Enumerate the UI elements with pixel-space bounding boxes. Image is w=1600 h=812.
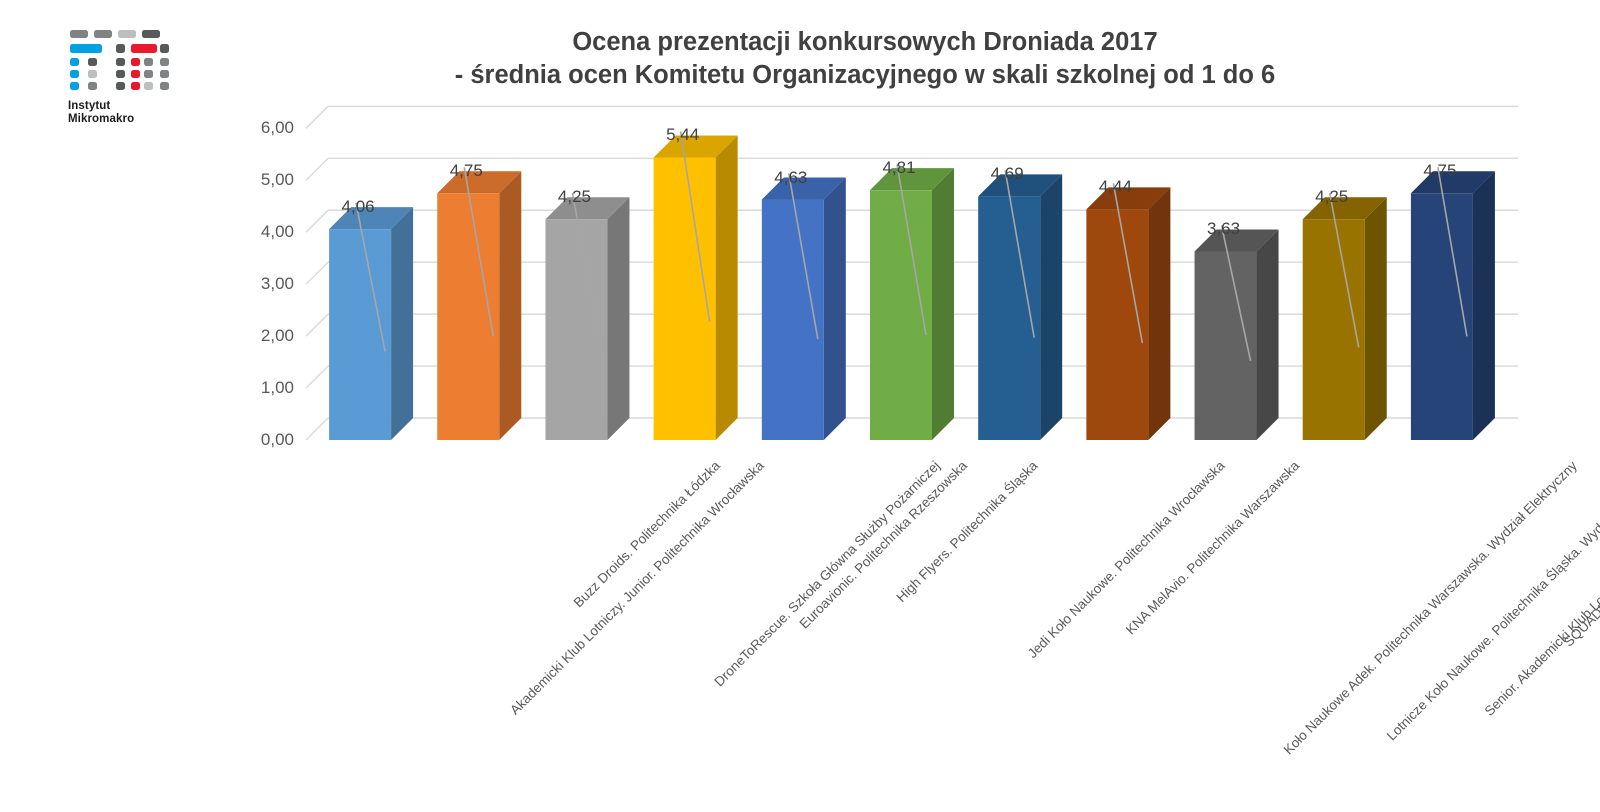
bar-side-face (932, 168, 954, 440)
y-axis-tick-4-00: 4,00 (210, 222, 294, 242)
y-axis-tick-6-00: 6,00 (210, 118, 294, 138)
data-label-4: 5,44 (666, 125, 699, 145)
y-axis-tick-5-00: 5,00 (210, 170, 294, 190)
bar-10[interactable] (1303, 197, 1387, 440)
bar-side-face (1365, 197, 1387, 440)
bar-5[interactable] (762, 178, 846, 440)
bar-4[interactable] (654, 135, 738, 440)
bar-side-face (607, 197, 629, 440)
data-label-1: 4,06 (342, 197, 375, 217)
bar-7[interactable] (978, 174, 1062, 440)
bar-side-face (824, 178, 846, 440)
bar-1[interactable] (329, 207, 413, 440)
bar-side-face (499, 171, 521, 440)
bar-2[interactable] (437, 171, 521, 440)
bar-side-face (716, 135, 738, 440)
y-axis-tick-0-00: 0,00 (210, 430, 294, 450)
data-label-5: 4,63 (774, 168, 807, 188)
y-axis-tick-3-00: 3,00 (210, 274, 294, 294)
data-label-10: 4,25 (1315, 187, 1348, 207)
data-label-11: 4,75 (1423, 161, 1456, 181)
bar-side-face (1257, 229, 1279, 440)
bar-side-face (1473, 171, 1495, 440)
bar-side-face (1148, 187, 1170, 440)
bar-8[interactable] (1086, 187, 1170, 440)
bar-side-face (1040, 174, 1062, 440)
bar-6[interactable] (870, 168, 954, 440)
bar-3[interactable] (545, 197, 629, 440)
bar-11[interactable] (1411, 171, 1495, 440)
data-label-9: 3,63 (1207, 219, 1240, 239)
bar-9[interactable] (1195, 229, 1279, 440)
data-label-7: 4,69 (991, 164, 1024, 184)
bar-side-face (391, 207, 413, 440)
data-label-6: 4,81 (882, 158, 915, 178)
bars (329, 135, 1495, 440)
data-label-3: 4,25 (558, 187, 591, 207)
data-label-8: 4,44 (1099, 177, 1132, 197)
bar-chart-3d: 6,005,004,003,002,001,000,004,064,754,25… (0, 0, 1600, 812)
y-axis-tick-1-00: 1,00 (210, 378, 294, 398)
data-label-2: 4,75 (450, 161, 483, 181)
y-axis-tick-2-00: 2,00 (210, 326, 294, 346)
